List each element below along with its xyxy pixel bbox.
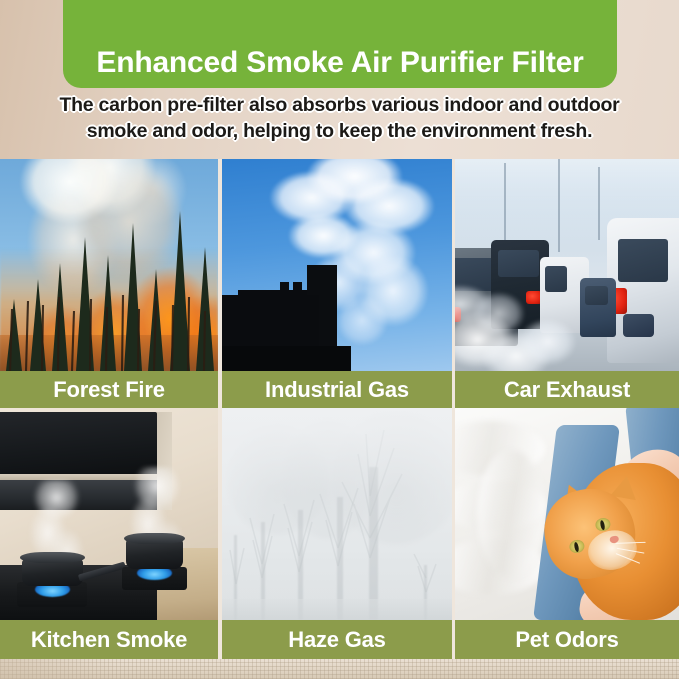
industrial-gas-photo: [222, 159, 452, 371]
car-window: [618, 239, 668, 282]
pot-right-rim: [124, 533, 185, 544]
grid-cell-forest-fire: Forest Fire: [0, 159, 218, 408]
roof-pipe-2-shape: [293, 282, 302, 293]
pot-right: [126, 539, 183, 569]
bottom-texture-strip: [0, 659, 679, 679]
cell-label-haze-gas: Haze Gas: [222, 620, 452, 659]
side-mirror: [623, 314, 653, 337]
grid-cell-industrial-gas: Industrial Gas: [222, 159, 452, 408]
forest-fire-photo: [0, 159, 218, 371]
cell-label-forest-fire: Forest Fire: [0, 371, 218, 408]
light-pole-2: [558, 159, 560, 252]
kitchen-smoke-photo: [0, 408, 218, 620]
range-hood-shape: [0, 412, 157, 476]
factory-roof-shape: [238, 290, 307, 311]
pet-odors-photo: [455, 408, 679, 620]
haze-gas-photo: [222, 408, 452, 620]
grid-cell-kitchen-smoke: Kitchen Smoke: [0, 408, 218, 659]
light-pole-1: [504, 163, 506, 248]
cell-label-pet-odors: Pet Odors: [455, 620, 679, 659]
feature-grid: Forest Fire Industrial Gas: [0, 159, 679, 659]
conifer-silhouettes-icon: [0, 159, 218, 371]
product-feature-poster: Enhanced Smoke Air Purifier Filter The c…: [0, 0, 679, 679]
header-banner: Enhanced Smoke Air Purifier Filter: [63, 0, 617, 88]
cat-pupil-right: [599, 519, 605, 530]
strip-shade-left: [0, 659, 120, 679]
grid-cell-car-exhaust: Car Exhaust: [455, 159, 679, 408]
grid-cell-haze-gas: Haze Gas: [222, 408, 452, 659]
cat-eye-left: [567, 538, 584, 554]
factory-base-shape: [222, 346, 351, 371]
fog-veil-shape: [222, 408, 452, 620]
cell-label-kitchen-smoke: Kitchen Smoke: [0, 620, 218, 659]
cat-eye-right: [594, 516, 611, 532]
car-exhaust-photo: [455, 159, 679, 371]
bedding-fold-4: [477, 450, 544, 577]
subtitle-line-1: The carbon pre-filter also absorbs vario…: [22, 93, 657, 119]
fog-ground-shape: [222, 599, 452, 620]
cat-pupil-left: [573, 541, 579, 552]
page-title: Enhanced Smoke Air Purifier Filter: [96, 48, 583, 78]
roof-pipe-1-shape: [280, 282, 289, 293]
exhaust-fumes-shape: [455, 257, 621, 371]
light-pole-3: [598, 167, 600, 239]
subtitle-text: The carbon pre-filter also absorbs vario…: [22, 93, 657, 145]
grid-cell-pet-odors: Pet Odors: [455, 408, 679, 659]
pot-left-rim: [20, 552, 85, 563]
subtitle-line-2: smoke and odor, helping to keep the envi…: [22, 119, 657, 145]
cell-label-industrial-gas: Industrial Gas: [222, 371, 452, 408]
cell-label-car-exhaust: Car Exhaust: [455, 371, 679, 408]
